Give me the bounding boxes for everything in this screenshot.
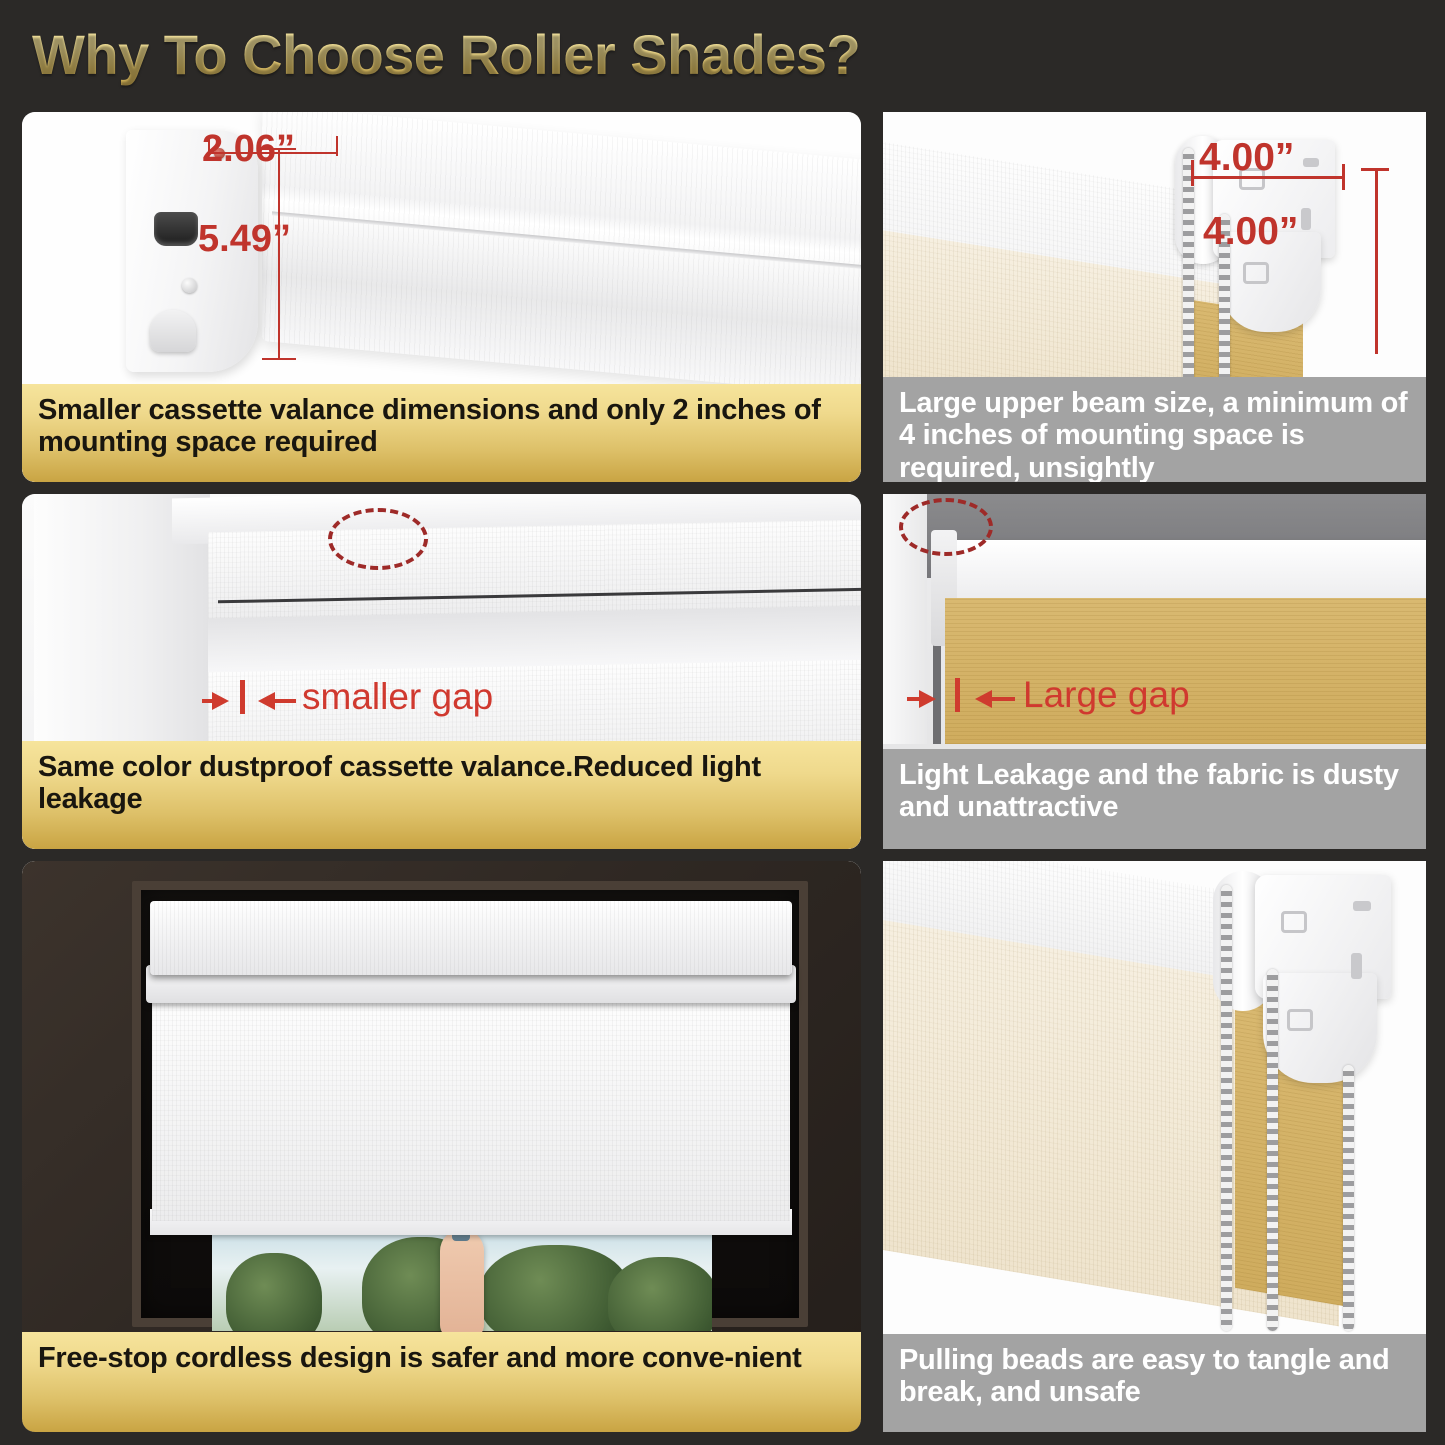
height-dimension-label: 5.49”: [198, 218, 291, 261]
gap-highlight-ellipse: [899, 498, 993, 556]
gap-marker: [955, 678, 960, 712]
beam-height-dim-line: [1375, 168, 1378, 354]
panel-3-caption: Same color dustproof cassette valance.Re…: [22, 741, 861, 849]
panel-large-beam: 4.00” 4.00” Large upper beam size, a min…: [883, 112, 1426, 482]
smaller-gap-label: smaller gap: [302, 676, 493, 718]
bracket-emblem-icon: [1243, 262, 1269, 284]
shade-fabric: [152, 999, 790, 1221]
gap-arrow-right-icon: [975, 690, 992, 708]
panel-4-caption: Light Leakage and the fabric is dusty an…: [883, 749, 1426, 849]
panel-1-caption: Smaller cassette valance dimensions and …: [22, 384, 861, 482]
cassette-knob: [150, 310, 196, 352]
gap-arrow-right-icon: [258, 692, 275, 710]
panel-6-caption: Pulling beads are easy to tangle and bre…: [883, 1334, 1426, 1432]
mounting-bracket-lower: [1263, 973, 1377, 1083]
beam-width-label: 4.00”: [1199, 136, 1294, 180]
panel-cassette-dimensions: 2.06” 5.49” Smaller cassette valance dim…: [22, 112, 861, 482]
bead-chain[interactable]: [1221, 885, 1232, 1331]
bead-chain[interactable]: [1267, 969, 1278, 1331]
gap-marker: [240, 680, 245, 714]
roller-tube: [939, 540, 1426, 602]
beam-height-label: 4.00”: [1203, 210, 1298, 254]
cassette-slot: [154, 212, 198, 246]
page-title: Why To Choose Roller Shades?: [32, 22, 860, 87]
bracket-emblem-icon: [1287, 1009, 1313, 1031]
cassette-valance: [150, 901, 792, 975]
bead-chain[interactable]: [1343, 1065, 1354, 1331]
comparison-grid: 2.06” 5.49” Smaller cassette valance dim…: [22, 112, 1426, 1430]
panel-cordless-design: Free-stop cordless design is safer and m…: [22, 861, 861, 1432]
bracket-emblem-icon: [1281, 911, 1307, 933]
panel-5-caption: Free-stop cordless design is safer and m…: [22, 1332, 861, 1432]
dusty-fabric: [945, 598, 1426, 744]
panel-2-caption: Large upper beam size, a minimum of 4 in…: [883, 377, 1426, 482]
panel-large-gap: Large gap Light Leakage and the fabric i…: [883, 494, 1426, 849]
panel-pulling-beads: Pulling beads are easy to tangle and bre…: [883, 861, 1426, 1432]
panel-small-gap: smaller gap Same color dustproof cassett…: [22, 494, 861, 849]
large-gap-label: Large gap: [1023, 674, 1190, 716]
hand: [440, 1229, 484, 1339]
seam-highlight-ellipse: [328, 508, 428, 570]
